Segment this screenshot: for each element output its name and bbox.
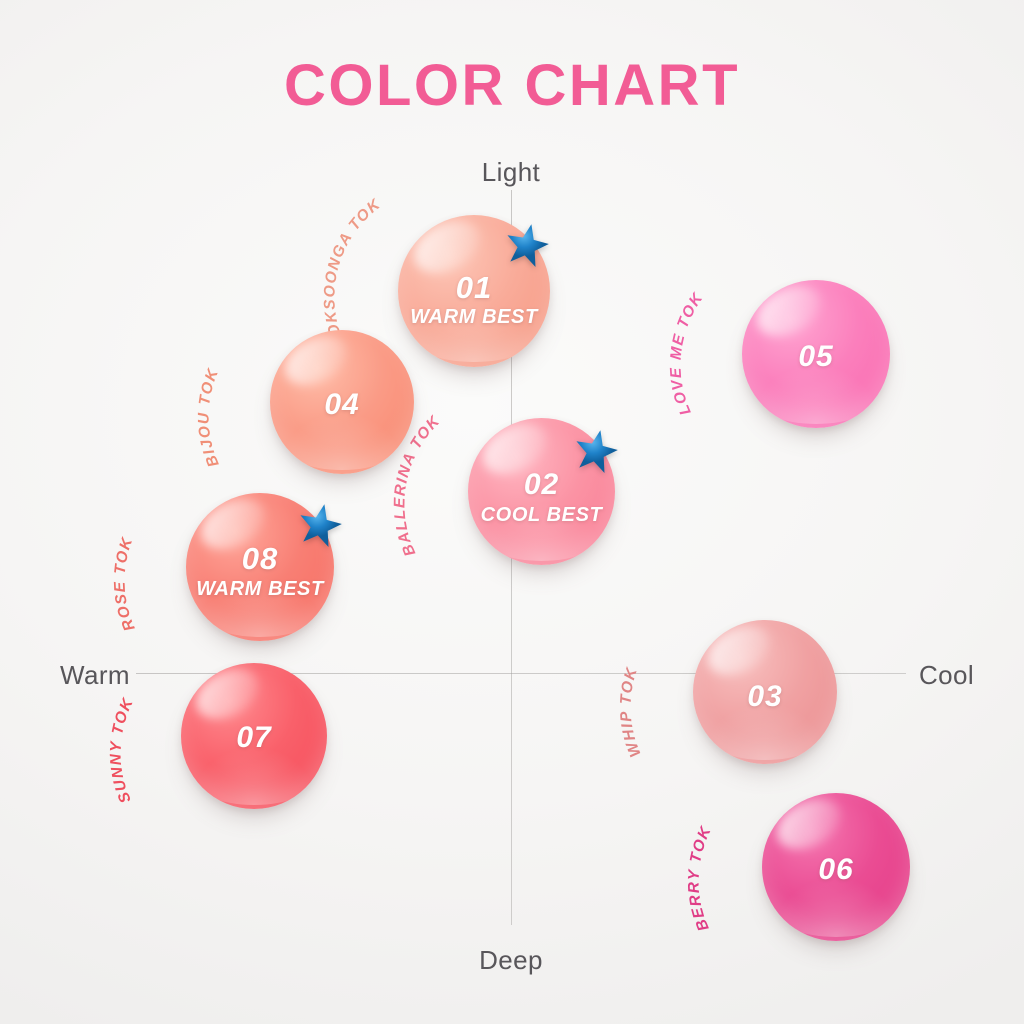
star-icon — [297, 502, 343, 548]
axis-label-light: Light — [482, 157, 540, 188]
swatch-disc — [762, 793, 910, 941]
star-icon — [573, 428, 619, 474]
svg-text:WHIP TOK: WHIP TOK — [616, 664, 645, 760]
color-swatch-07[interactable]: 07 — [181, 663, 327, 809]
svg-text:BOKSOONGA TOK: BOKSOONGA TOK — [316, 195, 392, 352]
swatch-disc — [742, 280, 890, 428]
svg-text:LOVE ME TOK: LOVE ME TOK — [665, 289, 711, 418]
color-swatch-04[interactable]: 04 — [270, 330, 414, 474]
color-swatch-03[interactable]: 03 — [693, 620, 837, 764]
axis-label-warm: Warm — [60, 660, 130, 691]
axis-label-deep: Deep — [479, 945, 543, 976]
star-icon — [504, 222, 550, 268]
swatch-disc — [270, 330, 414, 474]
swatch-disc — [181, 663, 327, 809]
svg-text:BIJOU TOK: BIJOU TOK — [194, 365, 226, 470]
color-swatch-05[interactable]: 05 — [742, 280, 890, 428]
svg-text:ROSE TOK: ROSE TOK — [110, 534, 140, 634]
axis-label-cool: Cool — [919, 660, 974, 691]
page-title: COLOR CHART — [0, 52, 1024, 119]
svg-text:BERRY TOK: BERRY TOK — [683, 822, 718, 933]
swatch-disc — [693, 620, 837, 764]
color-chart-canvas: COLOR CHART Light Deep Warm Cool BOKSOON… — [0, 0, 1024, 1024]
color-swatch-06[interactable]: 06 — [762, 793, 910, 941]
svg-text:SUNNY TOK: SUNNY TOK — [105, 694, 141, 806]
